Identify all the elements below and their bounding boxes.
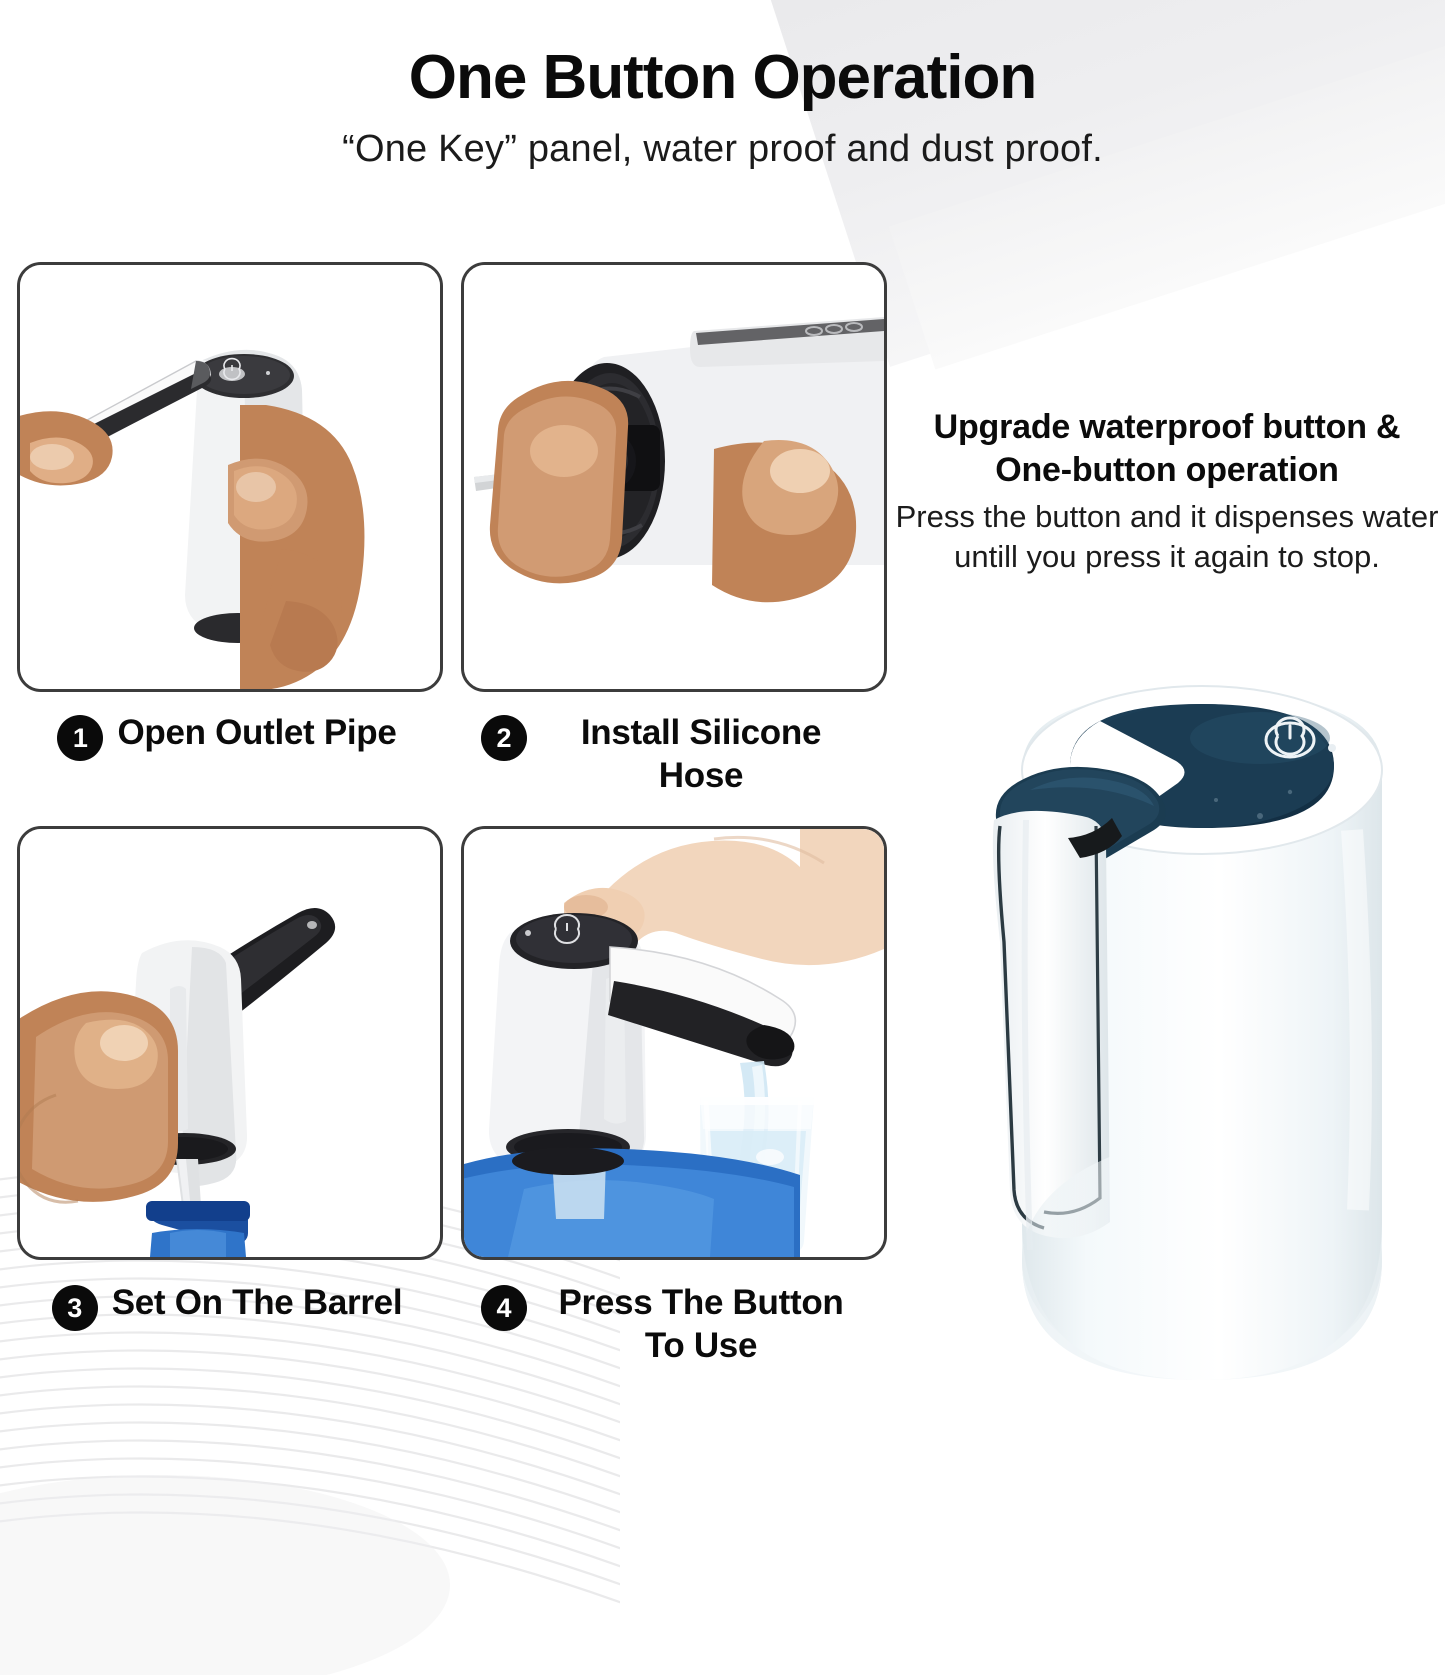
step-badge-1: 1 bbox=[57, 715, 103, 761]
step-caption-3: 3 Set On The Barrel bbox=[17, 1282, 437, 1331]
step-image-4 bbox=[461, 826, 887, 1260]
step-caption-2: 2 Install Silicone Hose bbox=[461, 712, 881, 797]
step-caption-text-1: Open Outlet Pipe bbox=[117, 712, 396, 755]
hero-product-image bbox=[960, 620, 1445, 1420]
step-caption-text-2: Install Silicone Hose bbox=[541, 712, 861, 797]
step-badge-3: 3 bbox=[52, 1285, 98, 1331]
step-caption-text-3: Set On The Barrel bbox=[112, 1282, 403, 1325]
feature-body: Press the button and it dispenses water … bbox=[893, 497, 1441, 578]
step-image-3 bbox=[17, 826, 443, 1260]
page-subtitle: “One Key” panel, water proof and dust pr… bbox=[0, 128, 1445, 171]
step-image-1 bbox=[17, 262, 443, 692]
step-caption-4: 4 Press The Button To Use bbox=[461, 1282, 881, 1367]
step-image-2 bbox=[461, 262, 887, 692]
page-title: One Button Operation bbox=[0, 45, 1445, 110]
step-badge-4: 4 bbox=[481, 1285, 527, 1331]
step-caption-1: 1 Open Outlet Pipe bbox=[17, 712, 437, 761]
feature-heading: Upgrade waterproof button & One-button o… bbox=[893, 406, 1441, 491]
step-badge-2: 2 bbox=[481, 715, 527, 761]
step-caption-text-4: Press The Button To Use bbox=[541, 1282, 861, 1367]
